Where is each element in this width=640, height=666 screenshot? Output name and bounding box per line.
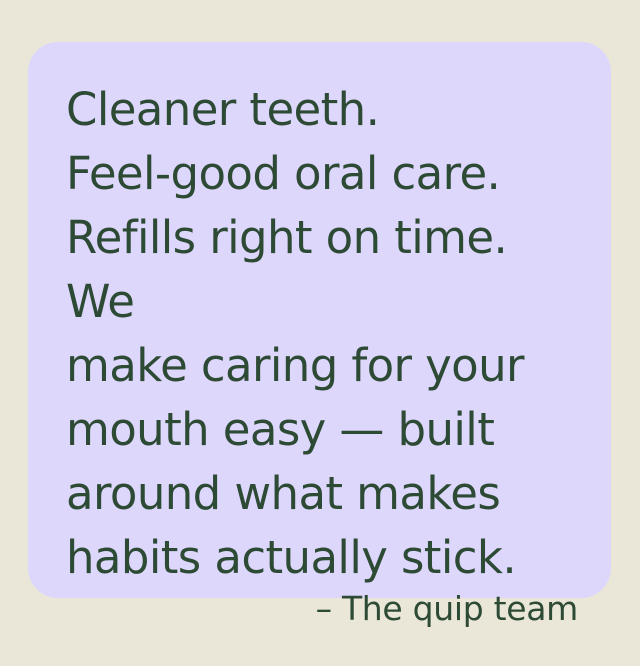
- quote-card: Cleaner teeth. Feel-good oral care. Refi…: [28, 42, 611, 598]
- quote-card-canvas: Cleaner teeth. Feel-good oral care. Refi…: [0, 0, 640, 640]
- quote-text: Cleaner teeth. Feel-good oral care. Refi…: [66, 78, 578, 590]
- attribution-row: – The quip team: [66, 590, 578, 666]
- quote-attribution: – The quip team: [316, 590, 578, 628]
